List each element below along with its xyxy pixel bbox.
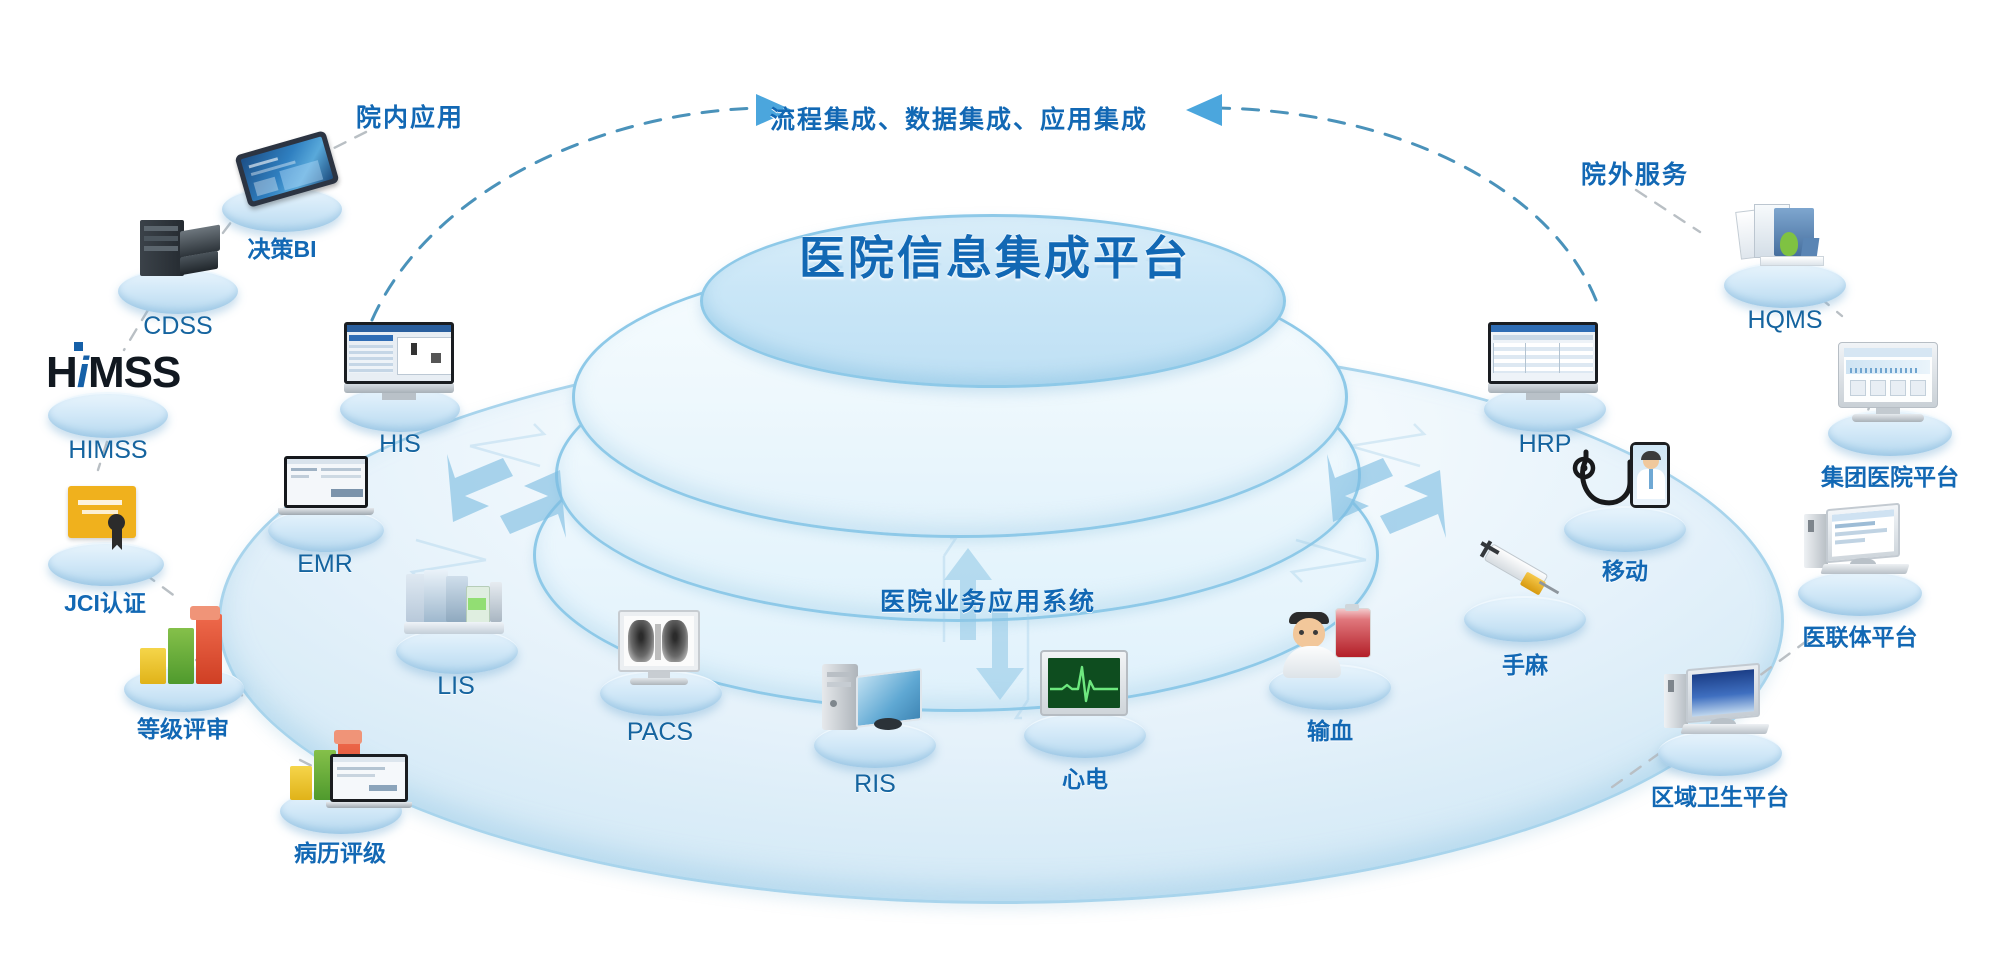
- node-label: 区域卫生平台: [1620, 778, 1820, 812]
- node-label: 心电: [1000, 760, 1170, 794]
- tower-pc-icon: [822, 660, 934, 736]
- server-rack-icon: [140, 214, 220, 280]
- lab-analyzer-icon: [402, 570, 514, 642]
- himss-logo-icon: HiMSS: [46, 340, 174, 402]
- business-systems-label: 医院业务应用系统: [880, 582, 1096, 618]
- node-lis[interactable]: LIS: [376, 568, 536, 706]
- node-cdss[interactable]: CDSS: [108, 210, 248, 340]
- ecg-monitor-icon: [1040, 650, 1132, 722]
- node-emr[interactable]: EMR: [250, 450, 400, 582]
- node-label: 病历评级: [250, 834, 430, 868]
- desktop-monitor-icon: [1488, 322, 1602, 402]
- node-label: 医联体平台: [1760, 618, 1960, 652]
- group-label-external-text: 院外服务: [1525, 155, 1745, 191]
- node-label: 输血: [1245, 712, 1415, 746]
- bar-chart-icon: [134, 604, 244, 682]
- node-his[interactable]: HIS: [320, 320, 480, 460]
- desktop-monitor-icon: [344, 322, 456, 402]
- diagram-canvas: 流程集成、数据集成、应用集成 基础数据中心 临床数据中心 运营数据中心 医院信息…: [0, 0, 2000, 955]
- node-label: PACS: [580, 718, 740, 747]
- xray-monitor-icon: [618, 610, 704, 688]
- integration-banner-label: 流程集成、数据集成、应用集成: [770, 100, 1148, 136]
- node-grade-review[interactable]: 等级评审: [98, 600, 268, 740]
- certificate-icon: [68, 486, 144, 554]
- documents-icon: [1734, 202, 1840, 276]
- node-label: HQMS: [1700, 306, 1870, 335]
- node-label: HRP: [1460, 430, 1630, 459]
- node-hrp[interactable]: HRP: [1460, 320, 1630, 460]
- node-label: HIMSS: [28, 436, 188, 465]
- chart-laptop-icon: [282, 722, 412, 806]
- node-label: 移动: [1540, 552, 1710, 586]
- node-regional-health-platform[interactable]: 区域卫生平台: [1620, 660, 1820, 812]
- node-group-hospital-platform[interactable]: 集团医院平台: [1790, 340, 1990, 492]
- node-label: 等级评审: [98, 710, 268, 744]
- transfusion-icon: [1279, 602, 1385, 678]
- node-mobile[interactable]: 移动: [1540, 440, 1710, 582]
- node-jci[interactable]: JCI认证: [30, 480, 180, 616]
- node-medical-union-platform[interactable]: 医联体平台: [1760, 500, 1960, 652]
- node-hqms[interactable]: HQMS: [1700, 200, 1870, 340]
- node-label: 手麻: [1440, 646, 1610, 680]
- node-ecg[interactable]: 心电: [1000, 648, 1170, 792]
- pc-monitor-blue-icon: [1664, 662, 1776, 744]
- laptop-icon: [278, 456, 374, 518]
- pc-monitor-icon: [1804, 502, 1916, 584]
- node-himss[interactable]: HiMSS HIMSS: [28, 330, 188, 466]
- node-transfusion[interactable]: 输血: [1245, 600, 1415, 744]
- node-label: 集团医院平台: [1790, 458, 1990, 492]
- platform-title: 医院信息集成平台: [760, 222, 1230, 288]
- node-record-rating[interactable]: 病历评级: [250, 718, 430, 864]
- node-label: LIS: [376, 672, 536, 701]
- tablet-icon: [240, 136, 336, 198]
- node-ris[interactable]: RIS: [790, 658, 960, 800]
- node-label: RIS: [790, 770, 960, 799]
- crt-monitor-icon: [1838, 342, 1942, 424]
- node-pacs[interactable]: PACS: [580, 608, 740, 748]
- group-label-internal-text: 院内应用: [300, 98, 520, 134]
